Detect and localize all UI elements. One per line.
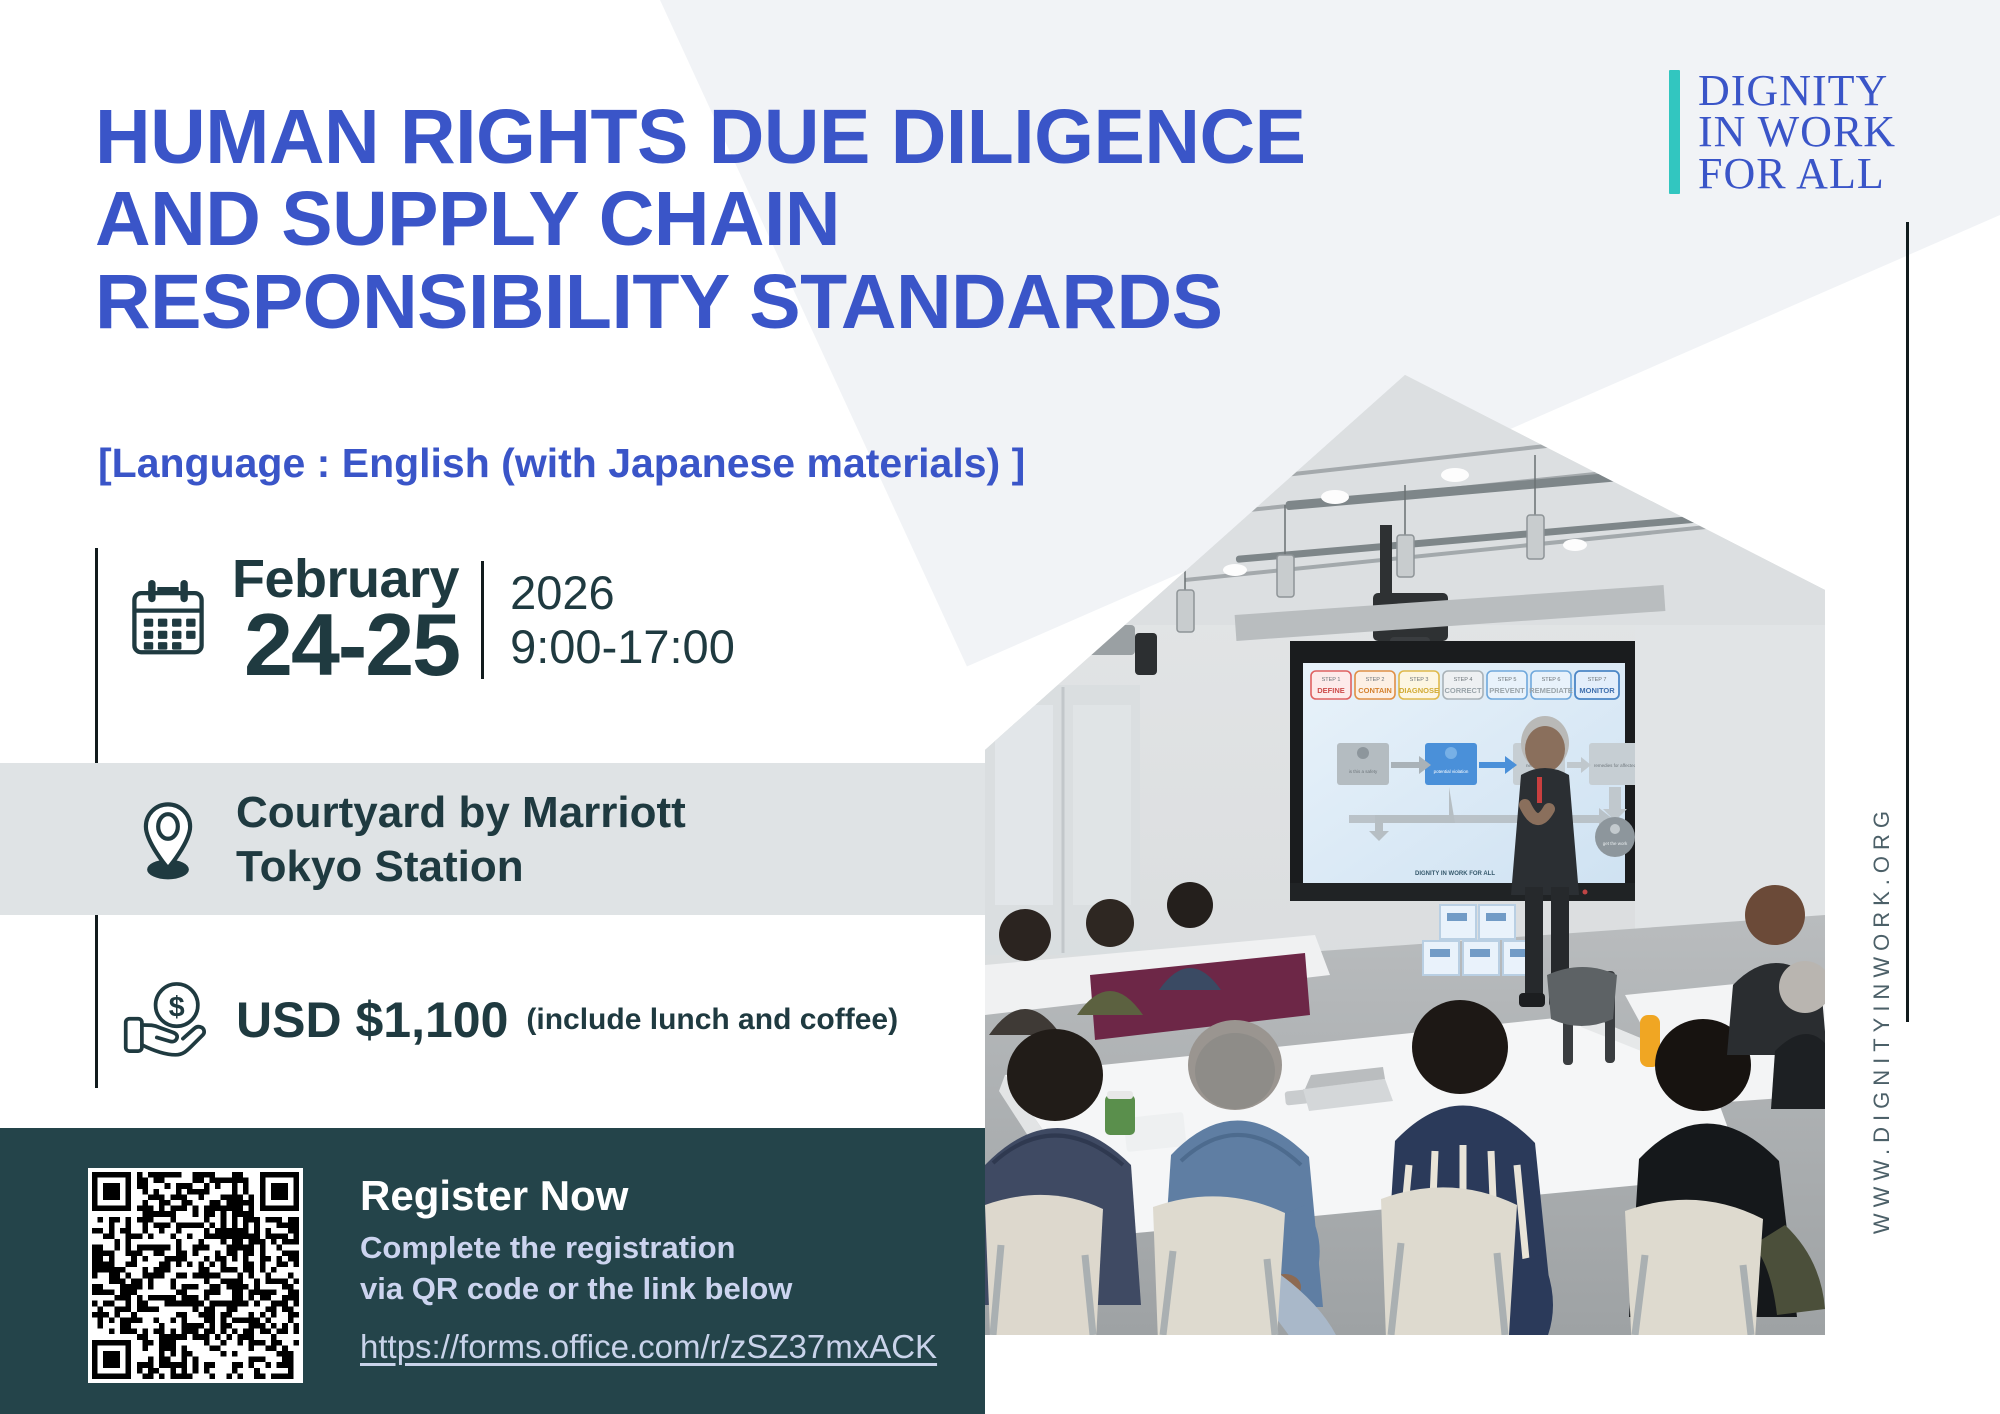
location-text: Courtyard by Marriott Tokyo Station	[236, 786, 686, 893]
svg-text:DIGNITY IN WORK FOR ALL: DIGNITY IN WORK FOR ALL	[1415, 871, 1495, 877]
hand-holding-coin-icon: $	[120, 980, 216, 1060]
register-line-2: via QR code or the link below	[360, 1269, 960, 1310]
register-text-block: Register Now Complete the registration v…	[360, 1172, 960, 1366]
title-line-3: RESPONSIBILITY STANDARDS	[95, 261, 1345, 343]
date-year: 2026	[510, 566, 735, 620]
qr-code[interactable]	[88, 1168, 303, 1383]
svg-text:STEP 6: STEP 6	[1542, 677, 1561, 683]
logo-line-2: IN WORK	[1698, 111, 1896, 152]
svg-text:PREVENT: PREVENT	[1489, 686, 1525, 695]
location-row: Courtyard by Marriott Tokyo Station	[120, 770, 686, 910]
title-line-1: HUMAN RIGHTS DUE DILIGENCE	[95, 96, 1345, 178]
svg-text:STEP 3: STEP 3	[1410, 677, 1429, 683]
location-line-1: Courtyard by Marriott	[236, 786, 686, 840]
register-line-1: Complete the registration	[360, 1228, 960, 1269]
date-days: 24-25	[232, 604, 459, 686]
price-amount: USD $1,100	[236, 991, 508, 1049]
title-line-2: AND SUPPLY CHAIN	[95, 178, 1345, 260]
logo-teal-bar	[1669, 70, 1680, 194]
svg-text:remedies for affected: remedies for affected	[1594, 763, 1637, 768]
date-row: February 24-25 2026 9:00-17:00	[120, 550, 735, 690]
svg-text:DIAGNOSE: DIAGNOSE	[1399, 686, 1439, 695]
logo-line-1: DIGNITY	[1698, 70, 1896, 111]
svg-text:get the work: get the work	[1603, 841, 1628, 846]
location-line-2: Tokyo Station	[236, 840, 686, 894]
price-row: $ USD $1,100 (include lunch and coffee)	[120, 965, 898, 1075]
event-poster: DIGNITY IN WORK FOR ALL HUMAN RIGHTS DUE…	[0, 0, 2000, 1414]
registration-link[interactable]: https://forms.office.com/r/zSZ37mxACK	[360, 1328, 937, 1366]
svg-text:CORRECT: CORRECT	[1444, 686, 1482, 695]
svg-text:MONITOR: MONITOR	[1579, 686, 1615, 695]
brand-logo: DIGNITY IN WORK FOR ALL	[1669, 70, 1896, 194]
location-pin-icon	[120, 797, 216, 883]
svg-text:STEP 7: STEP 7	[1588, 677, 1607, 683]
date-main: February 24-25	[232, 554, 481, 686]
logo-wordmark: DIGNITY IN WORK FOR ALL	[1698, 70, 1896, 194]
svg-text:STEP 4: STEP 4	[1454, 677, 1473, 683]
svg-text:$: $	[169, 991, 185, 1023]
svg-text:STEP 5: STEP 5	[1498, 677, 1517, 683]
svg-text:STEP 1: STEP 1	[1322, 677, 1341, 683]
svg-text:is this a safety: is this a safety	[1349, 769, 1378, 774]
svg-text:STEP 2: STEP 2	[1366, 677, 1385, 683]
date-time: 9:00-17:00	[510, 620, 735, 674]
svg-text:REMEDIATE: REMEDIATE	[1529, 686, 1573, 695]
register-instructions: Complete the registration via QR code or…	[360, 1228, 960, 1310]
svg-text:potential violation: potential violation	[1434, 769, 1469, 774]
language-note: [Language : English (with Japanese mater…	[98, 440, 1025, 487]
price-note: (include lunch and coffee)	[526, 1003, 898, 1037]
calendar-icon	[120, 577, 216, 663]
svg-text:DEFINE: DEFINE	[1317, 686, 1345, 695]
logo-line-3: FOR ALL	[1698, 153, 1896, 194]
website-vertical-text: WWW.DIGNITYINWORK.ORG	[1852, 805, 1912, 1345]
register-title: Register Now	[360, 1172, 960, 1220]
date-secondary: 2026 9:00-17:00	[484, 566, 735, 674]
page-title: HUMAN RIGHTS DUE DILIGENCE AND SUPPLY CH…	[95, 96, 1345, 343]
svg-text:CONTAIN: CONTAIN	[1358, 686, 1392, 695]
